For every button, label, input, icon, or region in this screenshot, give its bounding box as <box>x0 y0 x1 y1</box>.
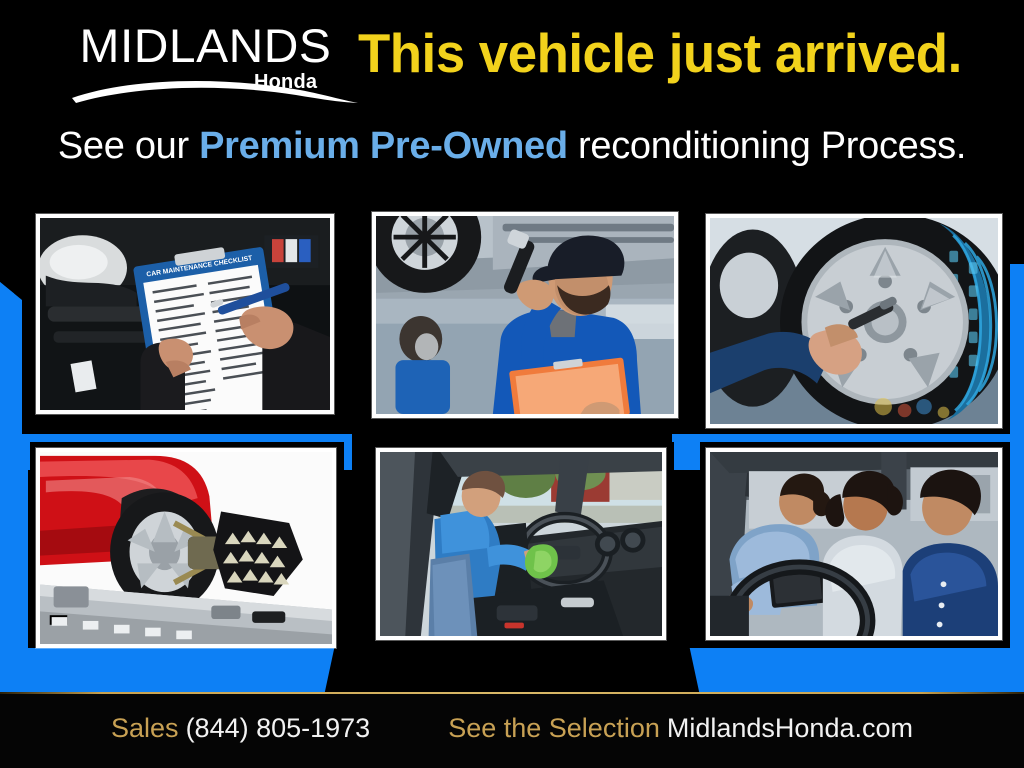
gallery-tile-interior-detailing[interactable] <box>376 448 666 640</box>
wheel-alignment-image <box>40 452 332 644</box>
wheel-and-tire-service-image <box>710 218 998 424</box>
subtitle: See our Premium Pre-Owned reconditioning… <box>0 126 1024 168</box>
gallery-tile-multi-point-inspection-checklist[interactable]: CAR MAINTENANCE CHECKLIST <box>36 214 334 414</box>
sales-label: Sales <box>111 714 179 744</box>
selection-label: See the Selection <box>448 714 660 744</box>
interior-detailing-image <box>380 452 662 636</box>
banner-footer: Sales(844) 805-1973See the SelectionMidl… <box>0 692 1024 768</box>
page-title: This vehicle just arrived. <box>358 26 962 81</box>
gallery-tile-undercarriage-inspection[interactable] <box>372 212 678 418</box>
gallery-tile-wheel-and-tire-service[interactable] <box>706 214 1002 428</box>
subtitle-suffix: reconditioning Process. <box>568 125 966 167</box>
sales-phone[interactable]: (844) 805-1973 <box>186 714 371 744</box>
gallery-tile-wheel-alignment[interactable] <box>36 448 336 648</box>
multi-point-inspection-checklist-image: CAR MAINTENANCE CHECKLIST <box>40 218 330 410</box>
subtitle-highlight: Premium Pre-Owned <box>199 125 568 167</box>
banner-header: MIDLANDS Honda This vehicle just arrived… <box>0 0 1024 196</box>
footer-contact-row: Sales(844) 805-1973See the SelectionMidl… <box>0 714 1024 744</box>
midlands-honda-logo: MIDLANDS Honda <box>70 22 360 100</box>
subtitle-prefix: See our <box>58 125 199 167</box>
swoosh-icon <box>70 76 360 106</box>
banner-canvas: MIDLANDS Honda This vehicle just arrived… <box>0 0 1024 768</box>
gold-divider <box>0 692 1024 694</box>
website-link[interactable]: MidlandsHonda.com <box>667 714 913 744</box>
customer-delivery-walkthrough-image <box>710 452 998 636</box>
logo-wordmark: MIDLANDS <box>80 22 332 69</box>
gallery-tile-customer-delivery-walkthrough[interactable] <box>706 448 1002 640</box>
undercarriage-inspection-image <box>376 216 674 414</box>
